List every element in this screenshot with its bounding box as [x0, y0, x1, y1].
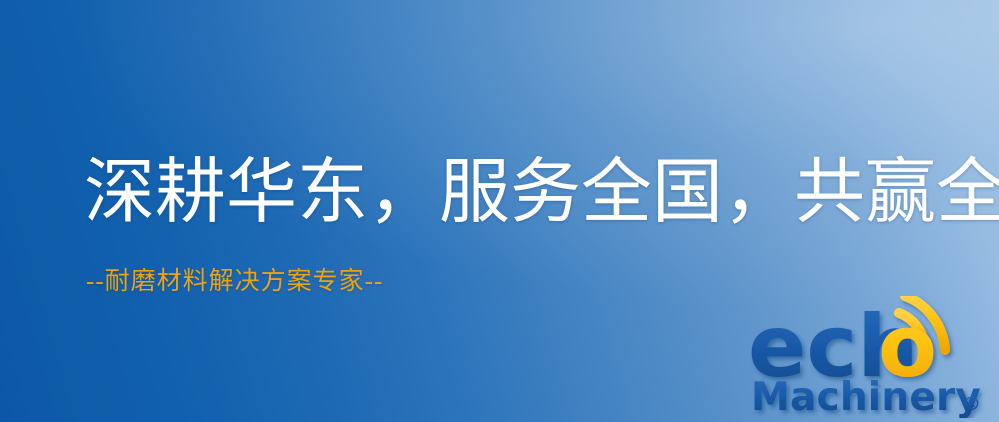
logo-registered-mark: ® — [962, 393, 981, 415]
promo-banner: 深耕华东，服务全国，共赢全球 --耐磨材料解决方案专家-- — [0, 0, 999, 422]
logo-machinery-wordmark: Machinery — [751, 375, 981, 418]
echo-machinery-logo: ech o Machinery ® — [748, 296, 996, 418]
banner-headline: 深耕华东，服务全国，共赢全球 — [84, 152, 999, 234]
banner-subtitle: --耐磨材料解决方案专家-- — [86, 266, 383, 298]
